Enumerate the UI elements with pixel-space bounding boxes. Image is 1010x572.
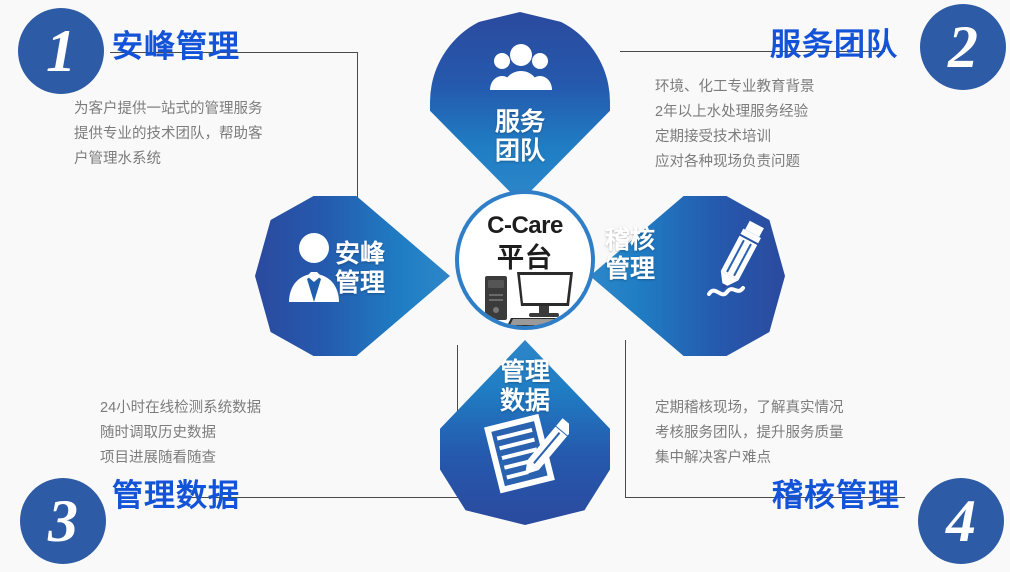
flower-diagram: 服务 团队 安峰 管理	[245, 0, 805, 540]
petal-label-management-data: 管理 数据	[440, 358, 610, 416]
quadrant-title-3: 管理数据	[112, 470, 240, 515]
people-group-icon	[490, 44, 552, 90]
quadrant-body-3: 24小时在线检测系统数据随时调取历史数据项目进展随看随查	[100, 396, 261, 471]
document-pencil-icon	[483, 408, 569, 494]
body-line: 24小时在线检测系统数据	[100, 396, 261, 421]
body-line: 随时调取历史数据	[100, 421, 261, 446]
number-badge-2: 2	[920, 4, 1006, 90]
quadrant-body-1: 为客户提供一站式的管理服务提供专业的技术团队，帮助客户管理水系统	[74, 97, 263, 172]
number-badge-1: 1	[18, 8, 104, 94]
body-line: 项目进展随看随查	[100, 446, 261, 471]
number-badge-3: 3	[20, 478, 106, 564]
body-line: 提供专业的技术团队，帮助客	[74, 122, 263, 147]
desktop-computer-icon	[483, 268, 577, 328]
petal-label-audit-management: 稽核 管理	[605, 226, 715, 284]
number-badge-4: 4	[918, 478, 1004, 564]
infographic-canvas: 1 2 3 4 安峰管理 服务团队 管理数据 稽核管理 为客户提供一站式的管理服…	[0, 0, 1010, 572]
body-line: 为客户提供一站式的管理服务	[74, 97, 263, 122]
center-hub[interactable]: C-Care 平台	[455, 190, 595, 330]
body-line: 户管理水系统	[74, 147, 263, 172]
petal-service-team[interactable]	[430, 12, 610, 202]
quadrant-title-1: 安峰管理	[112, 21, 240, 66]
petal-label-anfeng-management: 安峰 管理	[335, 240, 445, 298]
petal-label-service-team: 服务 团队	[430, 108, 610, 166]
